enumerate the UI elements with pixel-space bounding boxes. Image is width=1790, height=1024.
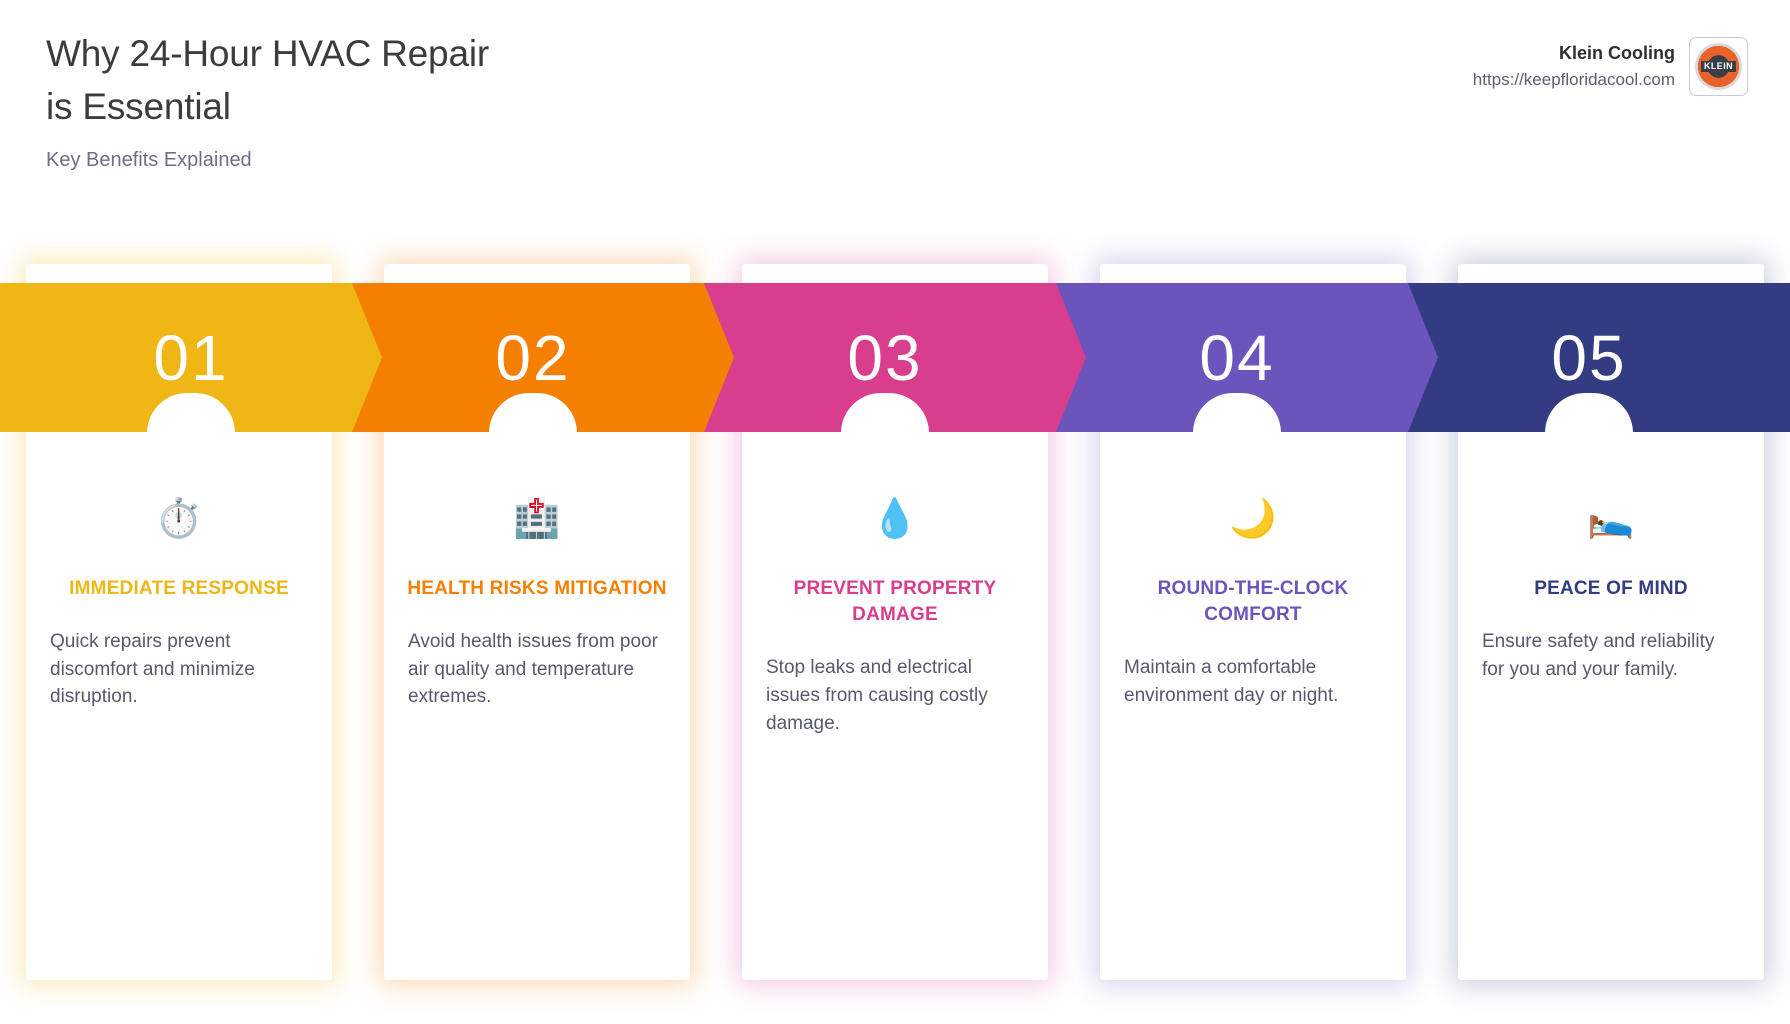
card-title: PEACE OF MIND	[1480, 576, 1742, 602]
card-content: 🌙ROUND-THE-CLOCK COMFORTMaintain a comfo…	[1100, 554, 1406, 710]
brand-logo-frame: KLEIN	[1689, 37, 1748, 96]
card-content: ⏱️IMMEDIATE RESPONSEQuick repairs preven…	[26, 554, 332, 711]
droplet-icon: 💧	[764, 494, 1026, 542]
brand-block: Klein Cooling https://keepfloridacool.co…	[1473, 37, 1748, 96]
card-slot: ⏱️IMMEDIATE RESPONSEQuick repairs preven…	[0, 264, 358, 980]
klein-cooling-logo-icon: KLEIN	[1695, 43, 1742, 90]
logo-wordmark: KLEIN	[1701, 61, 1736, 72]
card-description: Avoid health issues from poor air qualit…	[406, 628, 668, 711]
card-content: 💧PREVENT PROPERTY DAMAGEStop leaks and e…	[742, 554, 1048, 737]
card-slot: 💧PREVENT PROPERTY DAMAGEStop leaks and e…	[716, 264, 1074, 980]
hospital-icon: 🏥	[406, 494, 668, 542]
header-title-block: Why 24-Hour HVAC Repair is Essential Key…	[46, 28, 946, 173]
crescent-moon-icon: 🌙	[1122, 494, 1384, 542]
page-subtitle: Key Benefits Explained	[46, 147, 946, 173]
benefit-card[interactable]: 🌙ROUND-THE-CLOCK COMFORTMaintain a comfo…	[1100, 264, 1406, 980]
brand-url[interactable]: https://keepfloridacool.com	[1473, 68, 1675, 93]
card-description: Stop leaks and electrical issues from ca…	[764, 654, 1026, 737]
stopwatch-icon: ⏱️	[48, 494, 310, 542]
person-in-bed-icon: 🛌	[1480, 494, 1742, 542]
brand-name: Klein Cooling	[1473, 40, 1675, 66]
page-title: Why 24-Hour HVAC Repair is Essential	[46, 28, 516, 133]
card-description: Quick repairs prevent discomfort and min…	[48, 628, 310, 711]
benefit-card[interactable]: 🛌PEACE OF MINDEnsure safety and reliabil…	[1458, 264, 1764, 980]
card-title: IMMEDIATE RESPONSE	[48, 576, 310, 602]
card-title: ROUND-THE-CLOCK COMFORT	[1122, 576, 1384, 628]
card-slot: 🛌PEACE OF MINDEnsure safety and reliabil…	[1432, 264, 1790, 980]
card-slot: 🌙ROUND-THE-CLOCK COMFORTMaintain a comfo…	[1074, 264, 1432, 980]
benefit-card[interactable]: ⏱️IMMEDIATE RESPONSEQuick repairs preven…	[26, 264, 332, 980]
card-slot: 🏥HEALTH RISKS MITIGATIONAvoid health iss…	[358, 264, 716, 980]
card-title: HEALTH RISKS MITIGATION	[406, 576, 668, 602]
card-content: 🏥HEALTH RISKS MITIGATIONAvoid health iss…	[384, 554, 690, 711]
card-description: Ensure safety and reliability for you an…	[1480, 628, 1742, 683]
brand-text: Klein Cooling https://keepfloridacool.co…	[1473, 40, 1675, 93]
benefit-card[interactable]: 🏥HEALTH RISKS MITIGATIONAvoid health iss…	[384, 264, 690, 980]
card-description: Maintain a comfortable environment day o…	[1122, 654, 1384, 709]
infographic-page: Why 24-Hour HVAC Repair is Essential Key…	[0, 0, 1790, 1024]
benefit-card[interactable]: 💧PREVENT PROPERTY DAMAGEStop leaks and e…	[742, 264, 1048, 980]
benefit-cards-row: ⏱️IMMEDIATE RESPONSEQuick repairs preven…	[0, 264, 1790, 980]
card-content: 🛌PEACE OF MINDEnsure safety and reliabil…	[1458, 554, 1764, 683]
card-title: PREVENT PROPERTY DAMAGE	[764, 576, 1026, 628]
